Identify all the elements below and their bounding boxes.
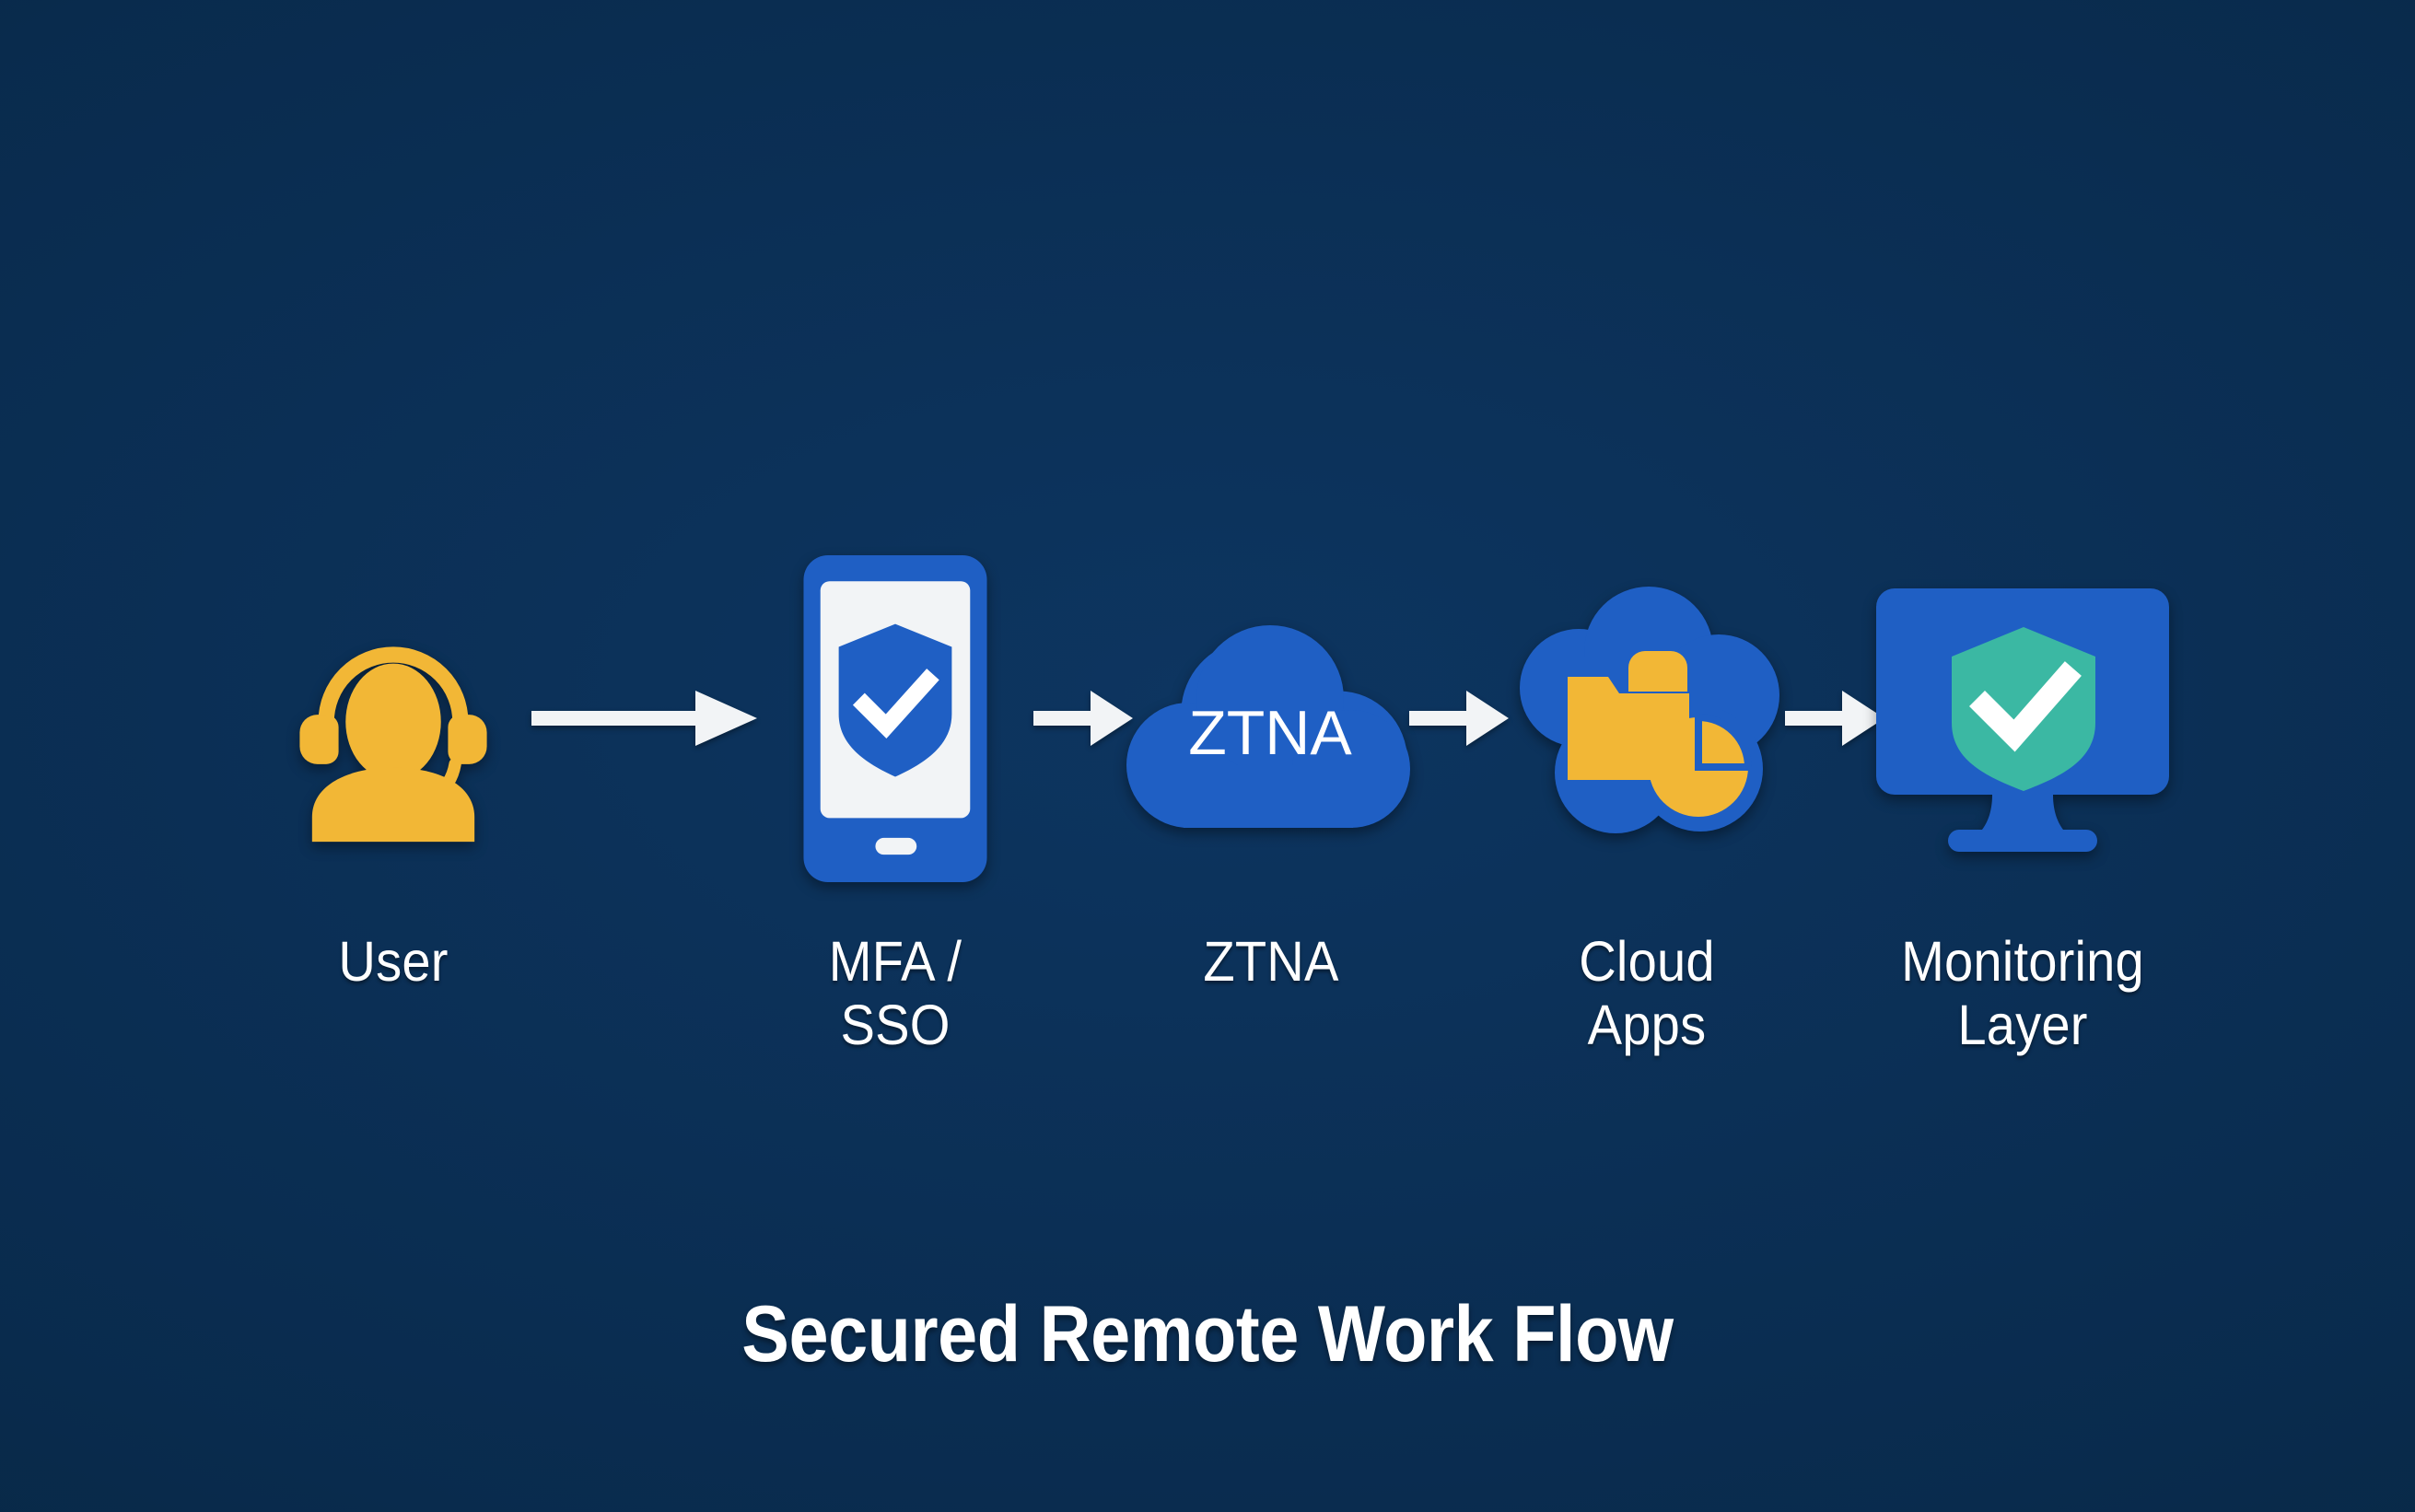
flow-label-monitoring-layer: Monitoring Layer [1896, 912, 2150, 1057]
label-gap-2 [1033, 912, 1133, 921]
flow-label-cloud-apps: Cloud Apps [1520, 912, 1774, 1057]
phone-shield-icon [757, 543, 1033, 893]
user-headset-icon [255, 543, 531, 893]
cloud-ztna-icon: ZTNA [1133, 543, 1409, 893]
label-gap-1 [531, 912, 757, 921]
flow-node-cloud-apps[interactable] [1509, 534, 1785, 902]
flow-row: ZTNA [0, 516, 2415, 921]
connector-arrow-cloudapps-to-monitoring [1785, 534, 1884, 902]
flow-label-ztna: ZTNA [1144, 912, 1398, 994]
flow-label-mfa-sso: MFA / SSO [768, 912, 1022, 1057]
flow-labels-row: User MFA / SSO ZTNA Cloud Apps Monitorin… [0, 912, 2415, 1114]
connector-arrow-user-to-mfa [531, 534, 757, 902]
flow-label-user: User [266, 912, 520, 994]
ztna-cloud-label: ZTNA [1188, 698, 1352, 768]
flow-node-monitoring-layer[interactable] [1884, 534, 2161, 902]
flow-node-mfa-sso[interactable] [757, 534, 1033, 902]
diagram-title: Secured Remote Work Flow [121, 1289, 2294, 1380]
flow-node-ztna[interactable]: ZTNA [1133, 534, 1409, 902]
cloud-apps-icon [1509, 543, 1785, 893]
diagram-canvas: ZTNA [0, 0, 2415, 1512]
label-gap-3 [1409, 912, 1509, 921]
connector-arrow-ztna-to-cloudapps [1409, 534, 1509, 902]
label-gap-4 [1785, 912, 1884, 921]
monitor-shield-icon [1884, 543, 2161, 893]
flow-node-user[interactable] [255, 534, 531, 902]
